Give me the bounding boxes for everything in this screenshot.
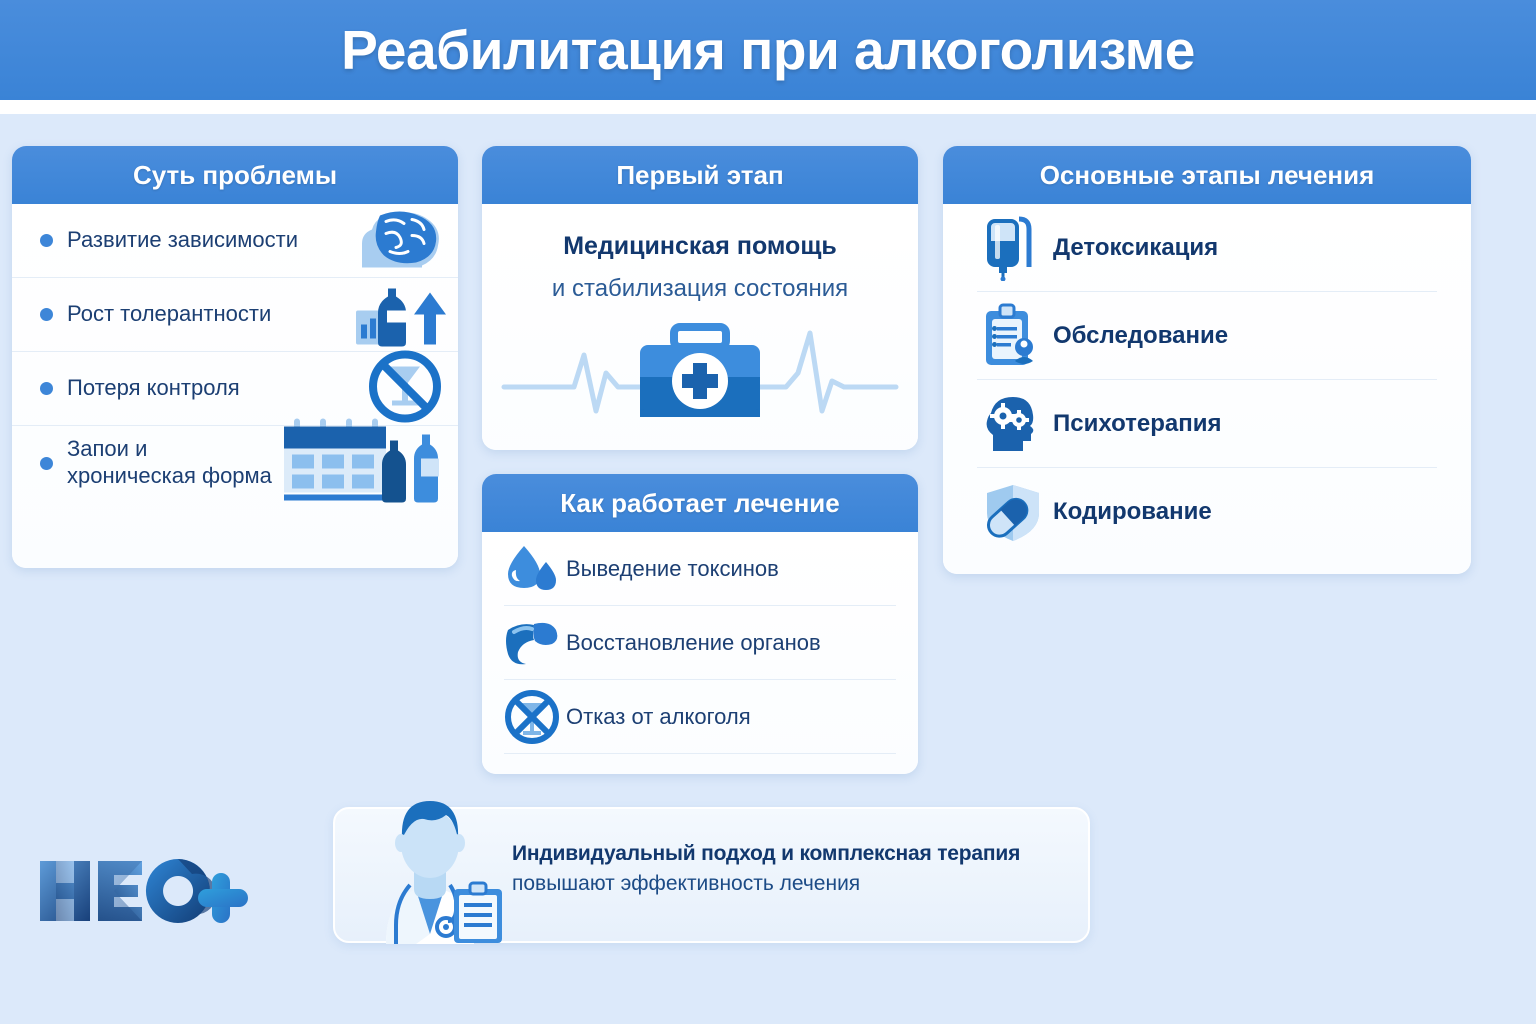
bullet-icon xyxy=(40,308,53,321)
no-alcohol-circle-icon xyxy=(504,689,560,745)
list-item[interactable]: Выведение токсинов xyxy=(504,532,896,606)
card-stages-body: Детоксикация Обслед xyxy=(943,204,1471,574)
brain-icon xyxy=(356,207,448,274)
card-problem-header: Суть проблемы xyxy=(12,146,458,204)
card-how-works-body: Выведение токсинов Восстановление органо… xyxy=(482,532,918,774)
calendar-bottles-icon xyxy=(280,415,448,512)
card-how-works: Как работает лечение Выведение токсинов xyxy=(482,474,918,774)
card-how-works-title: Как работает лечение xyxy=(560,488,839,519)
bullet-icon xyxy=(40,234,53,247)
water-droplet-icon xyxy=(504,544,560,594)
bullet-icon xyxy=(40,457,53,470)
doctor-clipboard-icon xyxy=(350,789,510,944)
first-stage-line2: и стабилизация состояния xyxy=(482,275,918,303)
list-item[interactable]: Обследование xyxy=(977,292,1437,380)
clipboard-exam-icon xyxy=(977,303,1047,369)
card-stages-header: Основные этапы лечения xyxy=(943,146,1471,204)
card-how-works-header: Как работает лечение xyxy=(482,474,918,532)
card-first-stage: Первый этап Медицинская помощь и стабили… xyxy=(482,146,918,450)
pill-shield-icon xyxy=(977,481,1047,543)
first-stage-line1: Медицинская помощь xyxy=(482,232,918,261)
card-problem-title: Суть проблемы xyxy=(133,160,337,191)
list-item[interactable]: Рост толерантности xyxy=(12,278,458,352)
list-item-label: Развитие зависимости xyxy=(67,227,298,254)
list-item-label: Психотерапия xyxy=(1053,410,1222,438)
neo-plus-logo xyxy=(36,853,256,929)
card-first-stage-header: Первый этап xyxy=(482,146,918,204)
liver-icon xyxy=(504,620,560,666)
page-title: Реабилитация при алкоголизме xyxy=(341,18,1195,82)
card-problem-body: Развитие зависимости Рост толерантности xyxy=(12,204,458,568)
list-item-label: Детоксикация xyxy=(1053,234,1218,262)
iv-drip-icon xyxy=(977,215,1047,281)
list-item-label: Запои и хроническая форма xyxy=(67,436,272,490)
list-item-label: Потеря контроля xyxy=(67,375,240,402)
card-problem: Суть проблемы Развитие зависимости Рост … xyxy=(12,146,458,568)
list-item-label: Выведение токсинов xyxy=(566,556,779,582)
list-item[interactable]: Восстановление органов xyxy=(504,606,896,680)
card-stages: Основные этапы лечения Детоксикация xyxy=(943,146,1471,574)
list-item-label: Отказ от алкоголя xyxy=(566,704,751,730)
head-gears-icon xyxy=(977,393,1047,455)
list-item-label: Восстановление органов xyxy=(566,630,821,656)
list-item[interactable]: Детоксикация xyxy=(977,204,1437,292)
footer-text: Индивидуальный подход и комплексная тера… xyxy=(512,842,1072,896)
list-item[interactable]: Отказ от алкоголя xyxy=(504,680,896,754)
card-first-stage-title: Первый этап xyxy=(616,160,783,191)
list-item[interactable]: Развитие зависимости xyxy=(12,204,458,278)
list-item[interactable]: Психотерапия xyxy=(977,380,1437,468)
header-banner: Реабилитация при алкоголизме xyxy=(0,0,1536,100)
list-item-label: Обследование xyxy=(1053,322,1228,350)
card-first-stage-body: Медицинская помощь и стабилизация состоя… xyxy=(482,232,918,450)
header-underline xyxy=(0,100,1536,114)
first-aid-kit-ecg-icon xyxy=(482,315,918,425)
bottle-growth-icon xyxy=(354,276,448,353)
card-stages-title: Основные этапы лечения xyxy=(1040,160,1375,191)
list-item-label: Рост толерантности xyxy=(67,301,271,328)
footer-line2: повышают эффективность лечения xyxy=(512,872,1072,896)
list-item[interactable]: Запои и хроническая форма xyxy=(12,426,458,500)
list-item-label: Кодирование xyxy=(1053,498,1212,526)
list-item[interactable]: Кодирование xyxy=(977,468,1437,556)
footer-line1: Индивидуальный подход и комплексная тера… xyxy=(512,842,1072,866)
bullet-icon xyxy=(40,382,53,395)
